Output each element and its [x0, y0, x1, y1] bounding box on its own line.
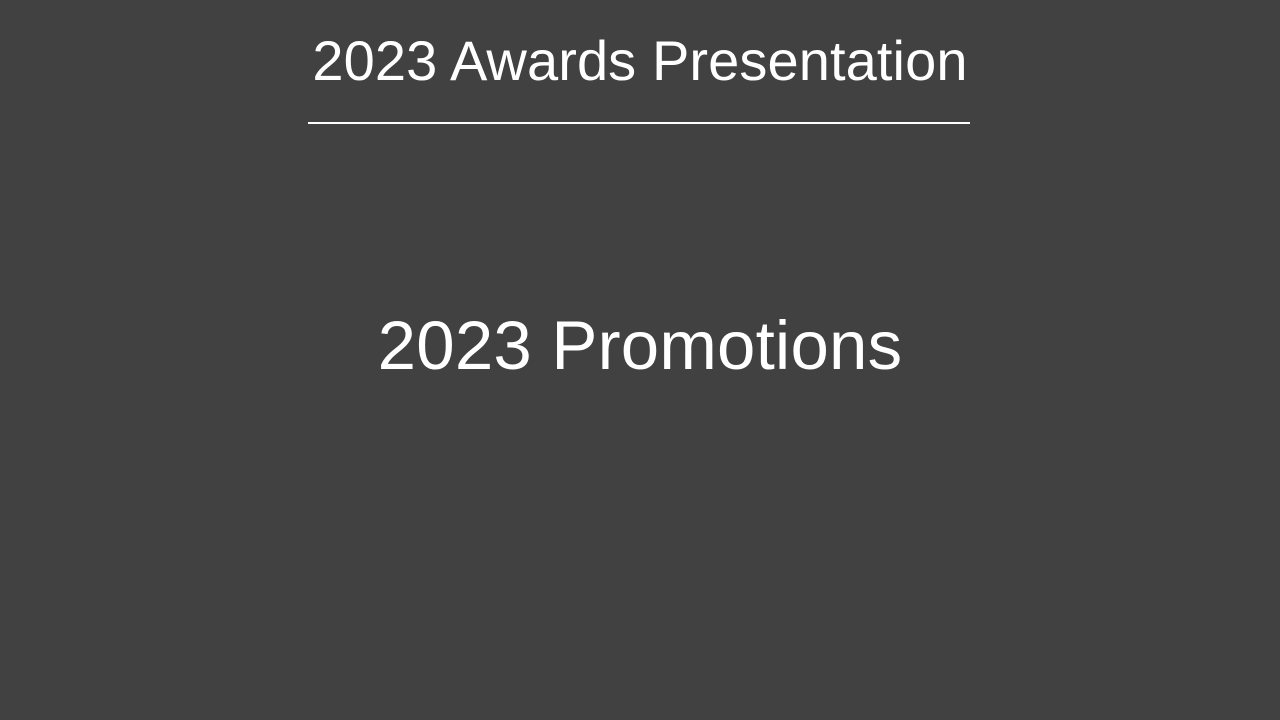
slide-title: 2023 Awards Presentation	[0, 30, 1280, 92]
title-divider-rule	[308, 122, 970, 124]
slide-body-placeholder[interactable]: 2023 Promotions	[0, 306, 1280, 386]
presentation-slide: 2023 Awards Presentation 2023 Promotions	[0, 0, 1280, 720]
slide-body-text: 2023 Promotions	[0, 306, 1280, 386]
slide-title-placeholder[interactable]: 2023 Awards Presentation	[0, 30, 1280, 92]
